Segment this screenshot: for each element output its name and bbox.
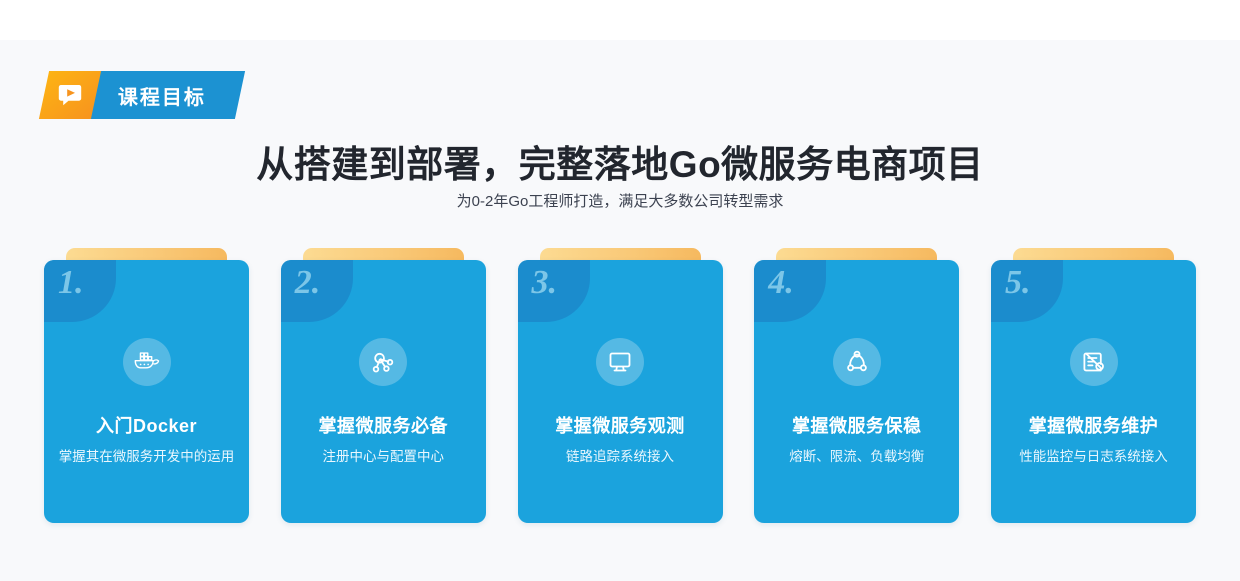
goal-card-3[interactable]: 3. 掌握微服务观测 链路追踪系统接入 xyxy=(518,248,723,523)
goal-card-1[interactable]: 1. xyxy=(44,248,249,523)
card-body[interactable]: 2. 掌握微服务必备 xyxy=(281,260,486,523)
section-badge-label: 课程目标 xyxy=(118,81,206,110)
card-title: 掌握微服务维护 xyxy=(991,412,1196,438)
card-number-label: 1. xyxy=(58,266,84,300)
goal-card-5[interactable]: 5. 掌握微服务维护 性能监控与日志系统接入 xyxy=(991,248,1196,523)
card-body[interactable]: 3. 掌握微服务观测 链路追踪系统接入 xyxy=(518,260,723,523)
card-body[interactable]: 4. 掌握微服务保稳 熔断、限流、负载 xyxy=(754,260,959,523)
goal-card-4[interactable]: 4. 掌握微服务保稳 熔断、限流、负载 xyxy=(754,248,959,523)
node-network-icon xyxy=(359,338,407,386)
card-description: 熔断、限流、负载均衡 xyxy=(768,445,945,469)
monitor-screen-icon xyxy=(596,338,644,386)
document-gear-icon xyxy=(1070,338,1118,386)
card-title: 掌握微服务保稳 xyxy=(754,412,959,438)
card-title: 掌握微服务观测 xyxy=(518,412,723,438)
share-nodes-icon xyxy=(833,338,881,386)
card-title: 掌握微服务必备 xyxy=(281,412,486,438)
top-white-strip xyxy=(0,0,1240,40)
card-description: 注册中心与配置中心 xyxy=(295,445,472,469)
card-description: 链路追踪系统接入 xyxy=(532,445,709,469)
course-goals-section: 课程目标 从搭建到部署，完整落地Go微服务电商项目 为0-2年Go工程师打造，满… xyxy=(0,0,1240,581)
goal-card-2[interactable]: 2. 掌握微服务必备 xyxy=(281,248,486,523)
card-number-badge: 2. xyxy=(281,260,353,322)
card-body[interactable]: 1. xyxy=(44,260,249,523)
card-number-badge: 1. xyxy=(44,260,116,322)
page-title: 从搭建到部署，完整落地Go微服务电商项目 xyxy=(0,134,1240,188)
card-number-badge: 4. xyxy=(754,260,826,322)
docker-whale-icon xyxy=(123,338,171,386)
brand-logo xyxy=(39,71,101,119)
card-description: 性能监控与日志系统接入 xyxy=(1005,445,1182,469)
card-number-badge: 5. xyxy=(991,260,1063,322)
card-description: 掌握其在微服务开发中的运用 xyxy=(58,445,235,469)
goal-card-list: 1. xyxy=(44,248,1196,523)
card-number-label: 5. xyxy=(1005,266,1031,300)
card-number-label: 4. xyxy=(768,266,794,300)
page-subtitle: 为0-2年Go工程师打造，满足大多数公司转型需求 xyxy=(0,190,1240,211)
card-number-label: 2. xyxy=(295,266,321,300)
speech-bubble-play-icon xyxy=(57,82,83,108)
section-badge-bar: 课程目标 xyxy=(87,71,245,119)
card-number-label: 3. xyxy=(532,266,558,300)
card-number-badge: 3. xyxy=(518,260,590,322)
card-title: 入门Docker xyxy=(44,412,249,438)
card-body[interactable]: 5. 掌握微服务维护 性能监控与日志系统接入 xyxy=(991,260,1196,523)
section-badge: 课程目标 xyxy=(44,71,240,119)
